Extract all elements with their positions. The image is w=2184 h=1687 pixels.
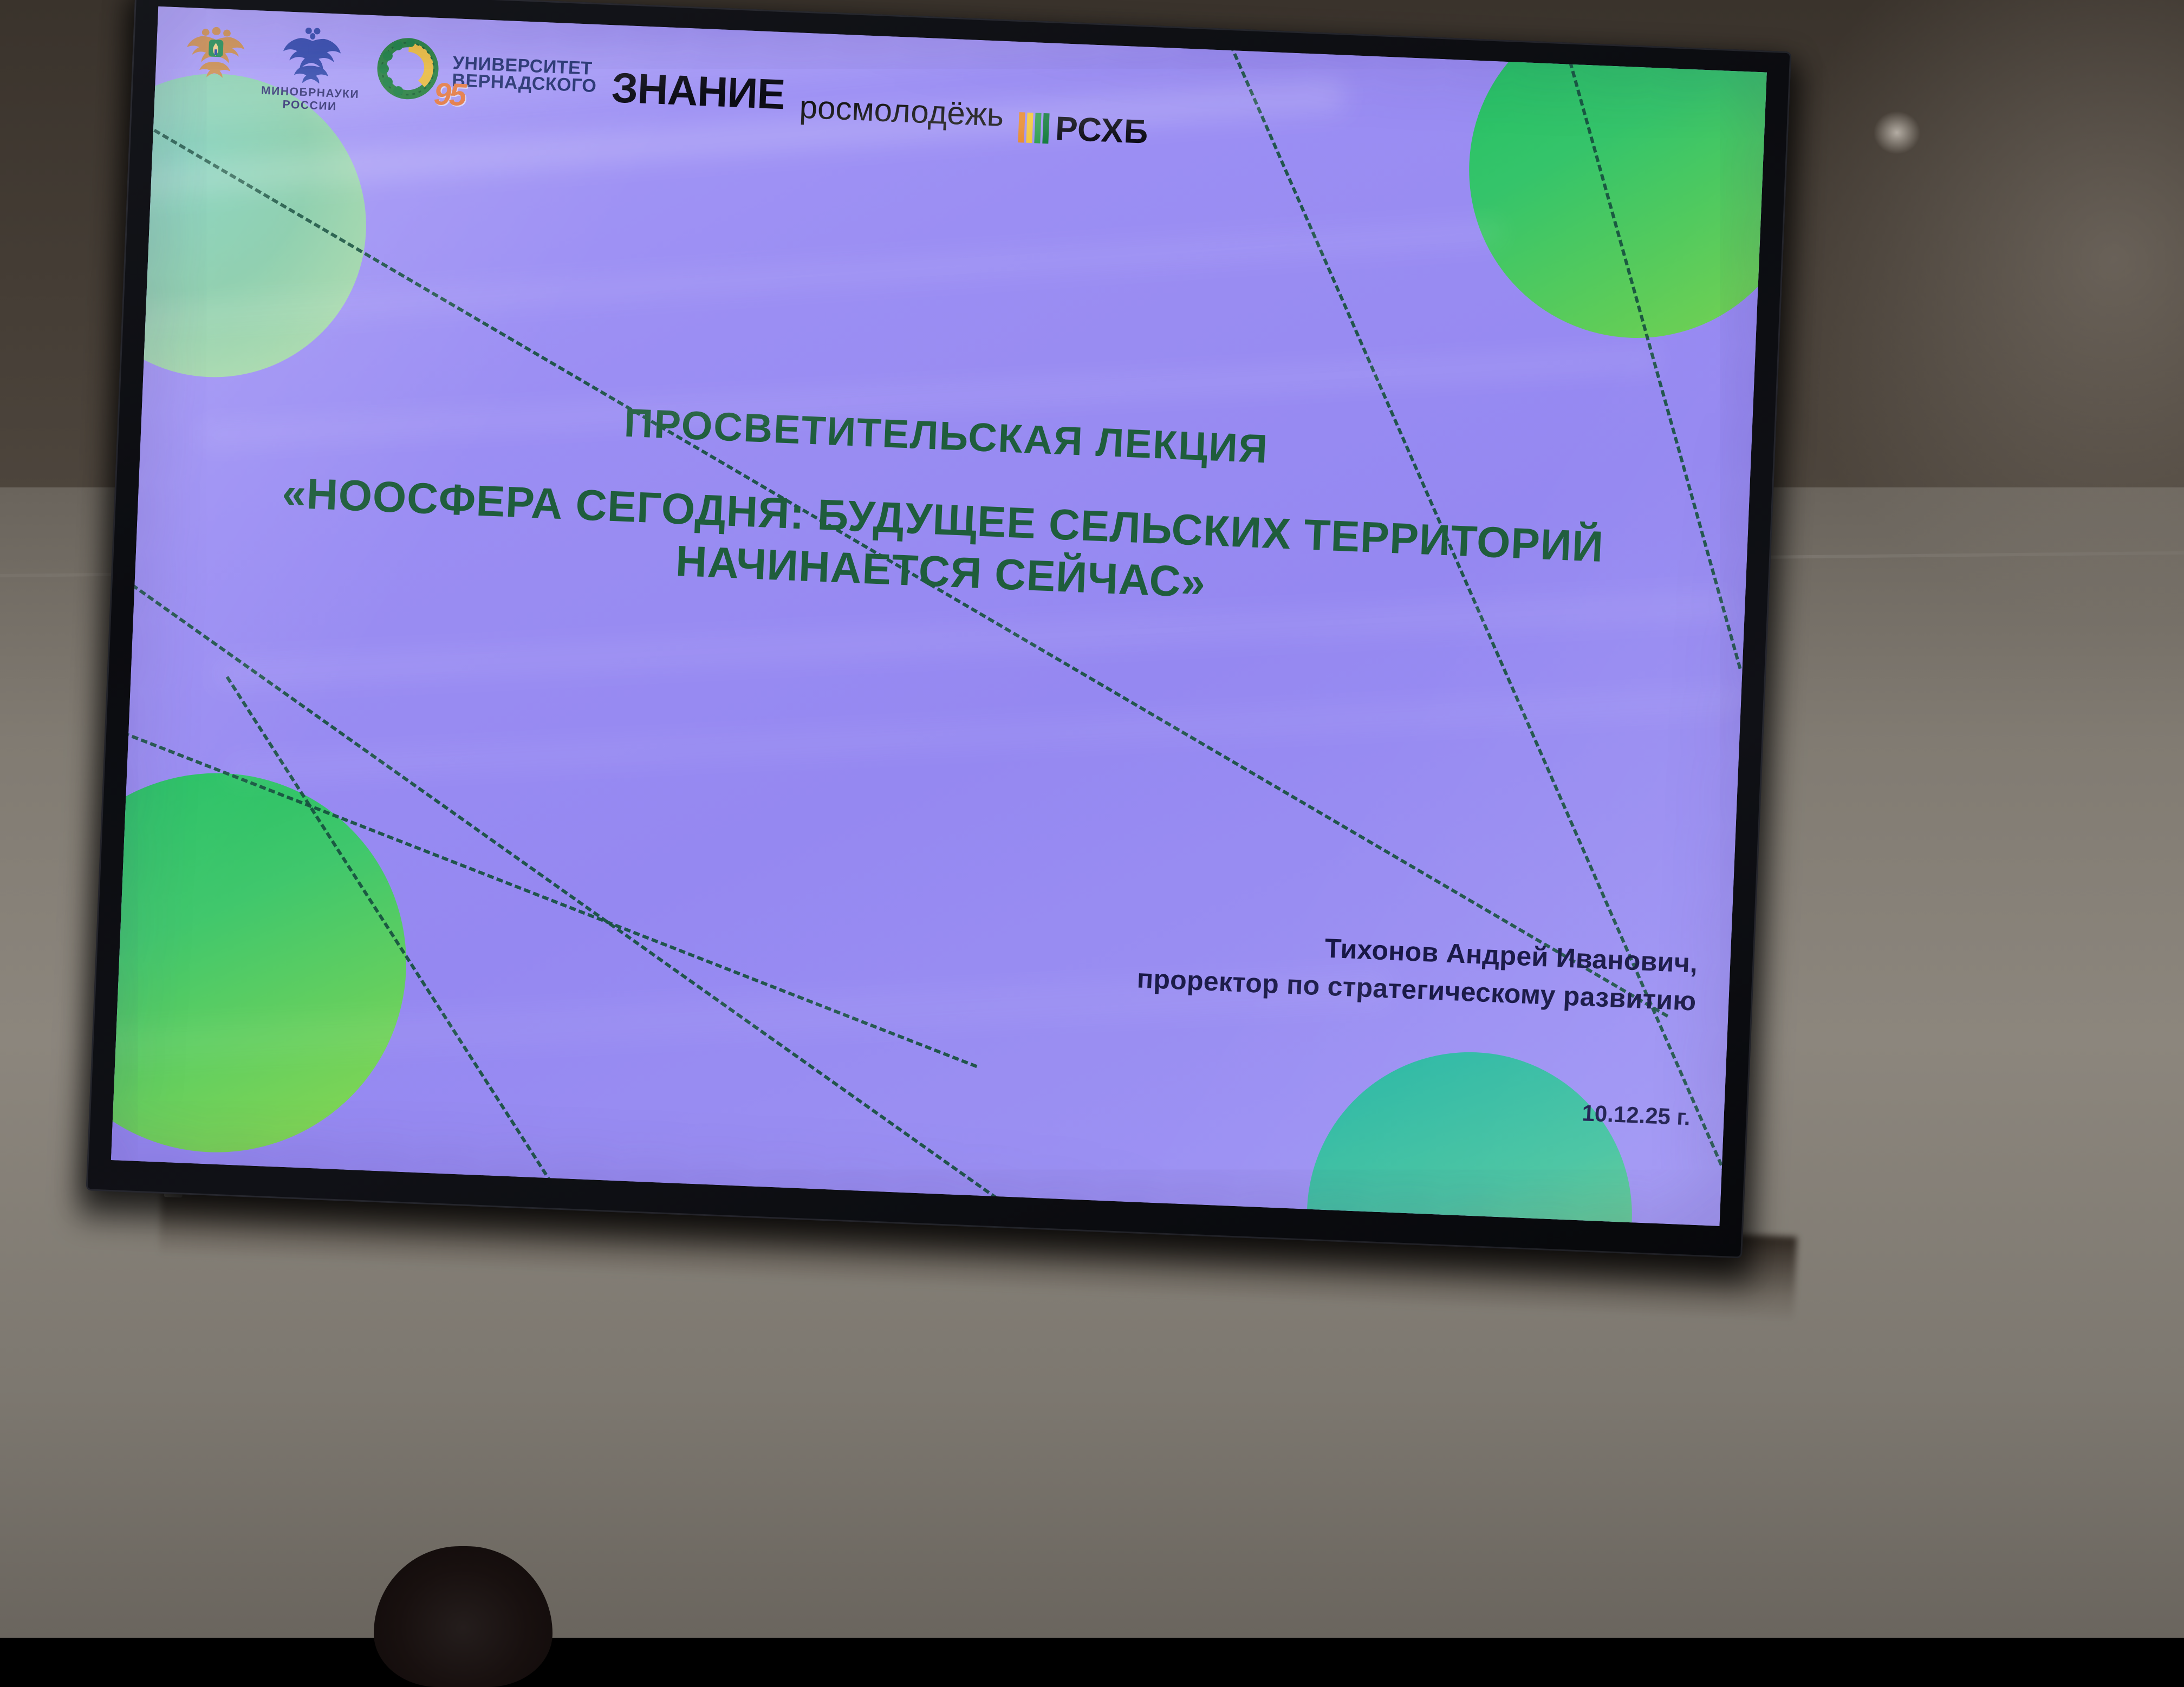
presentation-slide: МИНОБРНАУКИ РОССИИ <box>111 6 1767 1226</box>
russian-coat-of-arms-icon <box>183 17 249 81</box>
ceiling-patch <box>1864 103 1929 162</box>
logo-russia-coat-of-arms <box>183 17 249 81</box>
wall-mounted-display: МИНОБРНАУКИ РОССИИ <box>86 0 1792 1259</box>
slide-date: 10.12.25 г. <box>1582 1100 1691 1130</box>
room-background: МИНОБРНАУКИ РОССИИ <box>0 0 2184 1638</box>
